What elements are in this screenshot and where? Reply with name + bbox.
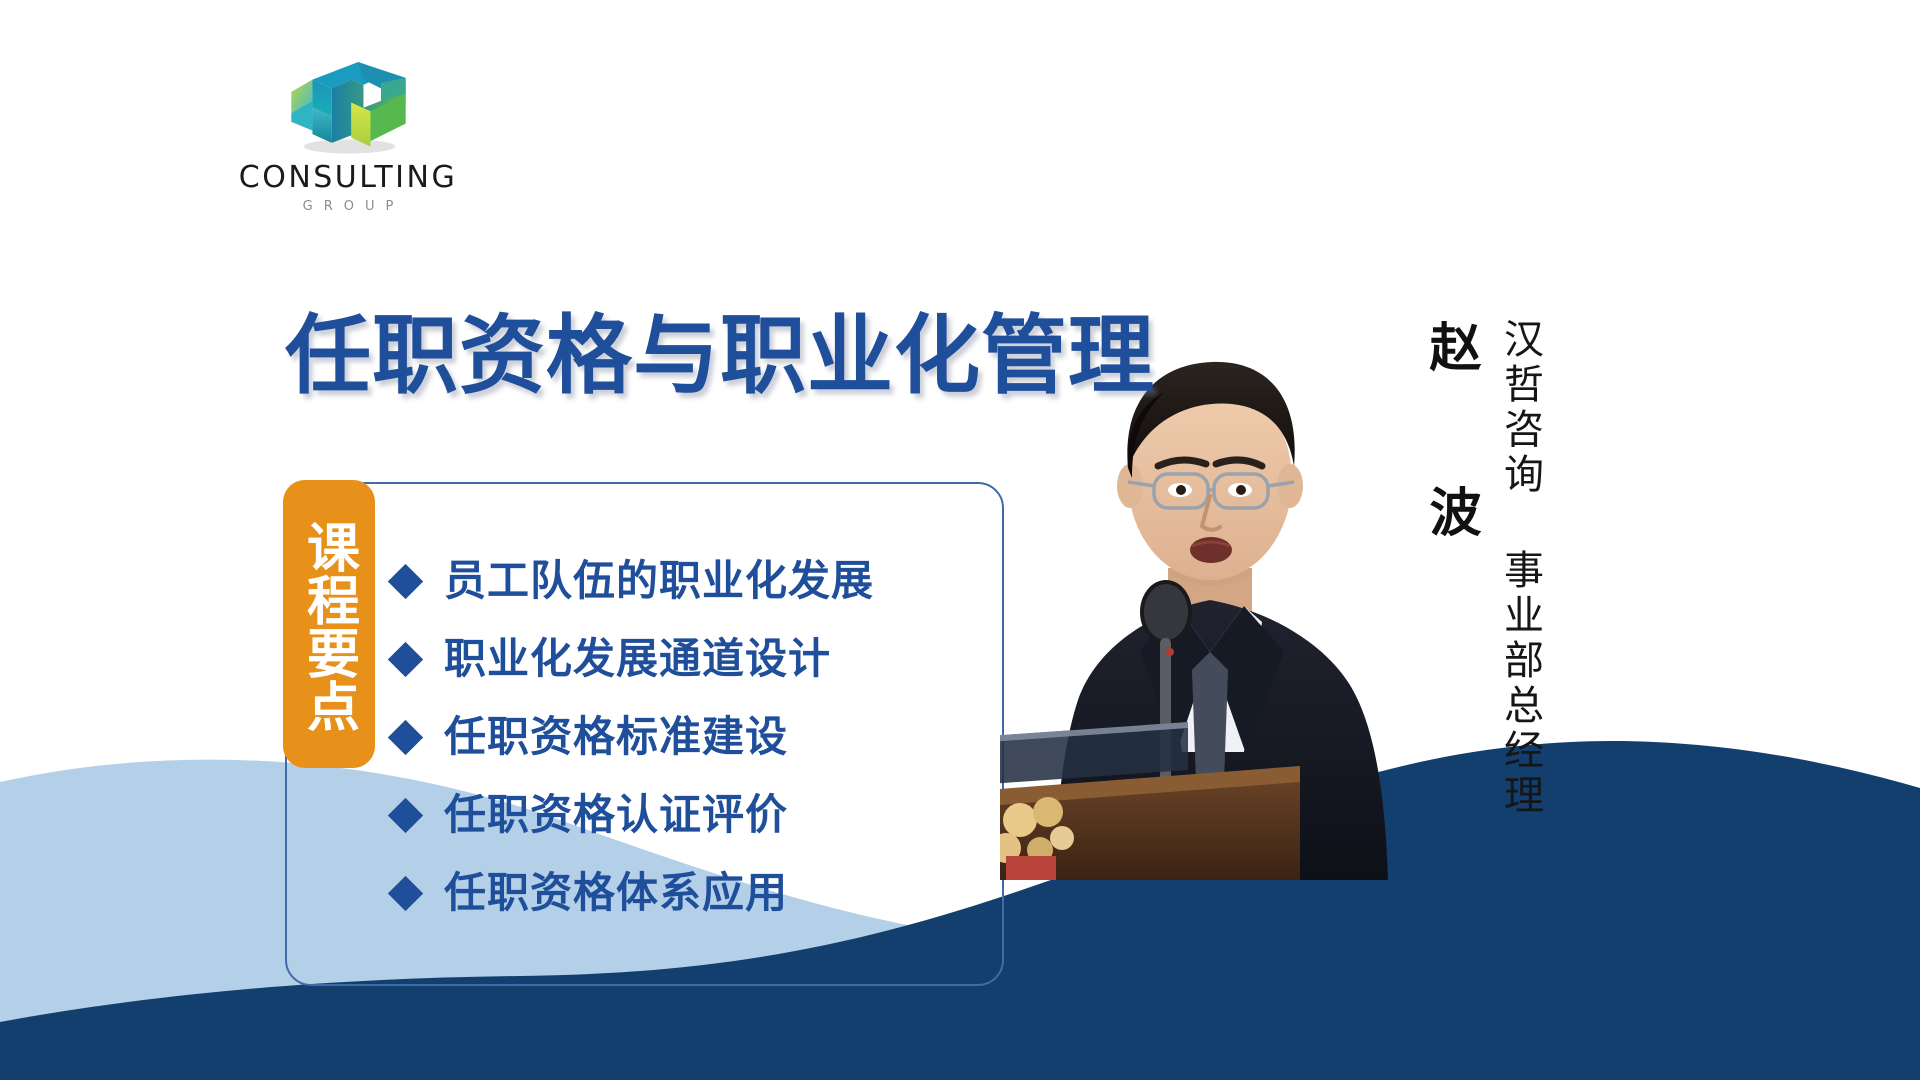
list-item-label: 任职资格体系应用 [444, 872, 788, 914]
diamond-bullet-icon [388, 719, 423, 754]
course-points-list: 员工队伍的职业化发展 职业化发展通道设计 任职资格标准建设 任职资格认证评价 任… [393, 542, 1013, 932]
list-item[interactable]: 任职资格认证评价 [393, 776, 1013, 854]
page-title: 任职资格与职业化管理 [285, 285, 1155, 410]
diamond-bullet-icon [388, 641, 423, 676]
diamond-bullet-icon [388, 875, 423, 910]
diamond-bullet-icon [388, 797, 423, 832]
list-item-label: 职业化发展通道设计 [444, 638, 831, 680]
list-item-label: 任职资格认证评价 [444, 794, 788, 836]
course-points-tab-label: 课程要点 [301, 520, 356, 732]
diamond-bullet-icon [388, 563, 423, 598]
brand-tagline: GROUP [238, 200, 458, 213]
course-points-tab: 课程要点 [283, 480, 375, 768]
slide-canvas: CONSULTING GROUP 任职资格与职业化管理 课程要点 员工队伍的职业… [0, 0, 1920, 1080]
list-item[interactable]: 任职资格标准建设 [393, 698, 1013, 776]
list-item-label: 员工队伍的职业化发展 [444, 560, 874, 602]
list-item[interactable]: 职业化发展通道设计 [393, 620, 1013, 698]
cube-arrow-logo-icon [281, 62, 416, 157]
logo-shadow [303, 139, 394, 153]
speaker-name: 赵 波 [1424, 320, 1476, 563]
list-item[interactable]: 任职资格体系应用 [393, 854, 1013, 932]
brand-logo: CONSULTING GROUP [238, 62, 458, 213]
list-item-label: 任职资格标准建设 [444, 716, 788, 758]
list-item[interactable]: 员工队伍的职业化发展 [393, 542, 1013, 620]
speaker-affiliation-title: 汉哲咨询 事业部总经理 [1500, 318, 1540, 819]
brand-name: CONSULTING [238, 163, 458, 193]
